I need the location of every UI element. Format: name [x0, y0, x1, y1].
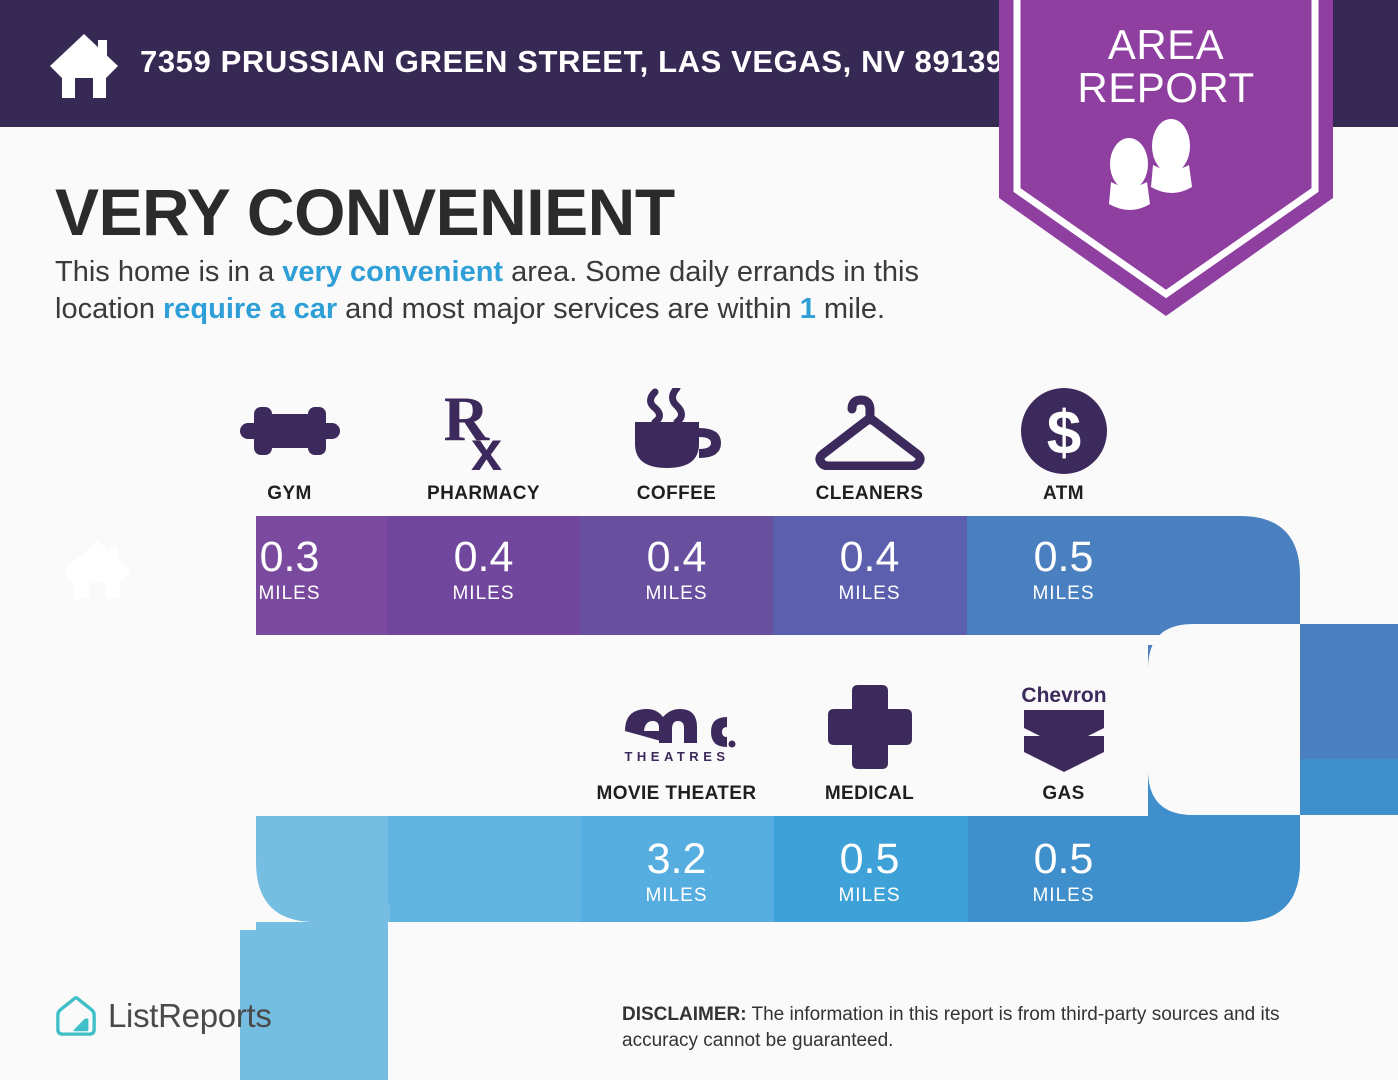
distance-unit: MILES	[645, 885, 707, 907]
disclaimer-label: DISCLAIMER:	[622, 1004, 747, 1025]
snake-limb-right-upper	[1148, 645, 1398, 760]
amenity-icon-cleaners: CLEANERS	[773, 380, 966, 505]
rx-icon: R x	[445, 388, 523, 474]
amenity-icon-coffee: COFFEE	[580, 380, 773, 505]
amenity-label: GYM	[267, 483, 311, 505]
home-icon	[62, 539, 132, 601]
distance-value: 3.2	[647, 838, 707, 881]
distance-cell-atm: 0.5 MILES	[967, 516, 1160, 624]
hero-description: This home is in a very convenient area. …	[55, 254, 985, 328]
dumbbell-icon	[240, 388, 340, 474]
distance-cell-coffee: 0.4 MILES	[580, 516, 773, 624]
distance-cell-cleaners: 0.4 MILES	[773, 516, 966, 624]
snake-corner-topright	[1160, 516, 1398, 656]
listreports-logo-text: ListReports	[108, 997, 272, 1035]
badge-text: AREA REPORT	[999, 24, 1333, 110]
distance-unit: MILES	[258, 583, 320, 605]
disclaimer: DISCLAIMER: The information in this repo…	[622, 1002, 1352, 1053]
amenity-label: CLEANERS	[816, 483, 924, 505]
snake-cell-blue-3	[387, 816, 581, 926]
distance-unit: MILES	[838, 885, 900, 907]
distance-cell-pharmacy: 0.4 MILES	[387, 516, 580, 624]
distance-value: 0.5	[1034, 838, 1094, 881]
page-title: VERY CONVENIENT	[55, 174, 675, 250]
distance-value: 0.4	[647, 536, 707, 579]
area-report-badge: AREA REPORT	[999, 0, 1333, 316]
listreports-house-icon	[55, 995, 97, 1037]
distance-unit: MILES	[645, 583, 707, 605]
distance-cell-gym: 0.3 MILES	[193, 516, 386, 624]
desc-text-1: This home is in a	[55, 256, 282, 288]
distance-value: 0.4	[840, 536, 900, 579]
distance-value: 0.4	[454, 536, 514, 579]
amenity-icon-atm: $ ATM	[967, 380, 1160, 505]
distance-unit: MILES	[1032, 885, 1094, 907]
clothes-hanger-icon	[815, 388, 925, 474]
home-icon	[48, 28, 120, 100]
svg-text:x: x	[471, 419, 502, 474]
badge-line-2: REPORT	[999, 67, 1333, 110]
area-report-infographic: 7359 PRUSSIAN GREEN STREET, LAS VEGAS, N…	[0, 0, 1398, 1080]
snake-home-icon-cell	[0, 516, 193, 624]
distance-unit: MILES	[1032, 583, 1094, 605]
amenity-icon-pharmacy: R x PHARMACY	[387, 380, 580, 505]
distance-cell-medical: 0.5 MILES	[773, 822, 966, 922]
distance-value: 0.5	[1034, 536, 1094, 579]
dollar-circle-icon: $	[1021, 388, 1107, 474]
amenity-label: PHARMACY	[427, 483, 540, 505]
amenity-label: ATM	[1043, 483, 1084, 505]
snake-inner-corner-mask	[388, 940, 448, 1080]
desc-text-3: and most major services are within	[337, 293, 800, 325]
svg-text:$: $	[1046, 399, 1080, 468]
distance-value: 0.5	[840, 838, 900, 881]
distance-unit: MILES	[838, 583, 900, 605]
distance-cell-movie-theater: 3.2 MILES	[580, 822, 773, 922]
amenity-icon-gym: GYM	[193, 380, 386, 505]
coffee-cup-icon	[629, 388, 725, 474]
distance-unit: MILES	[452, 583, 514, 605]
listreports-logo: ListReports	[55, 995, 272, 1037]
snake-cell-blue-end	[1160, 816, 1398, 926]
desc-highlight-3: 1	[800, 293, 816, 325]
property-address: 7359 PRUSSIAN GREEN STREET, LAS VEGAS, N…	[140, 44, 1004, 80]
desc-text-4: mile.	[816, 293, 885, 325]
badge-line-1: AREA	[999, 24, 1333, 67]
desc-highlight-2: require a car	[163, 293, 337, 325]
desc-highlight-1: very convenient	[282, 256, 503, 288]
amenity-label: COFFEE	[637, 483, 716, 505]
distance-cell-gas: 0.5 MILES	[967, 822, 1160, 922]
distance-value: 0.3	[260, 536, 320, 579]
